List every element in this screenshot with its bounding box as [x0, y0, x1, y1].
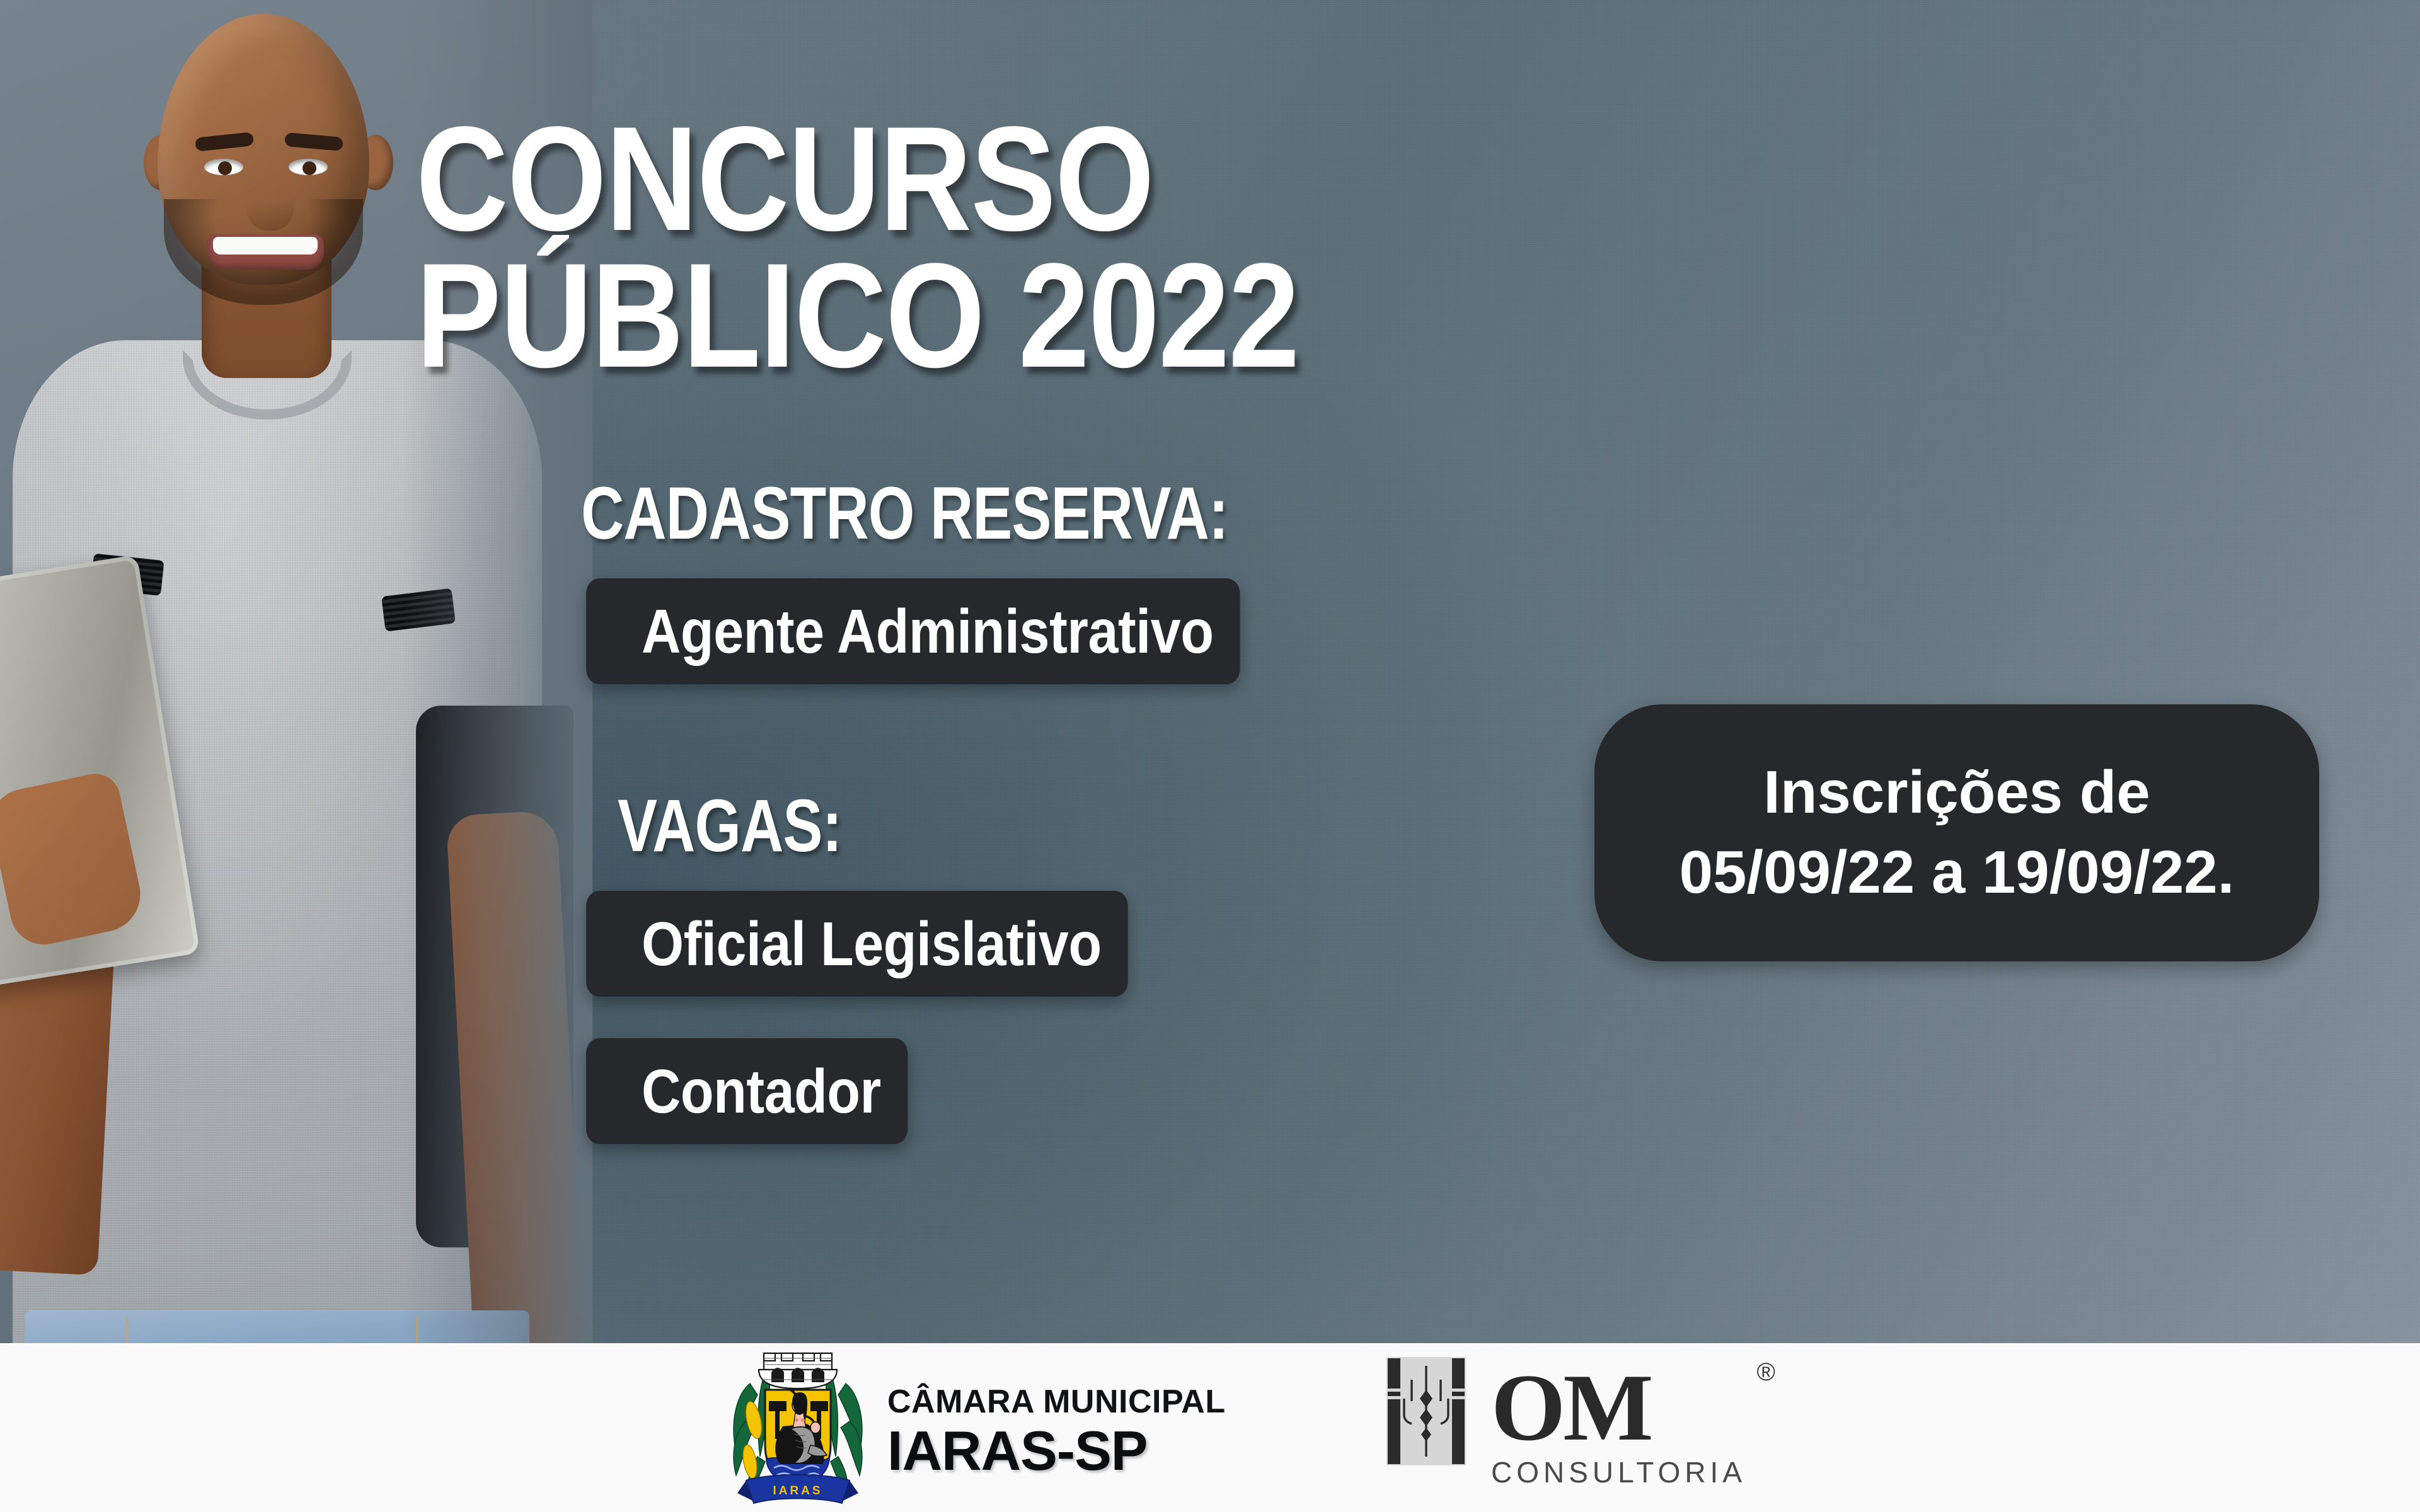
camara-text-block: CÂMARA MUNICIPAL IARAS-SP [887, 1379, 1226, 1479]
pupil-right [302, 161, 316, 175]
job-badge-oficial-legislativo: Oficial Legislativo [586, 891, 1128, 997]
iaras-coat-of-arms-icon: IARAS [725, 1351, 871, 1507]
om-consultoria-logo: OM ® CONSULTORIA [1386, 1357, 1746, 1487]
page-title: CONCURSO PÚBLICO 2022 [416, 111, 1717, 384]
om-wordmark: OM ® CONSULTORIA [1491, 1357, 1746, 1487]
camara-line2: IARAS-SP [887, 1423, 1226, 1479]
om-letters: OM [1491, 1360, 1746, 1455]
crest-motto-text: IARAS [773, 1484, 822, 1498]
page-title-line2: PÚBLICO 2022 [416, 248, 1717, 384]
poster-canvas: CONCURSO PÚBLICO 2022 CADASTRO RESERVA: … [0, 0, 2420, 1512]
registered-trademark-icon: ® [1757, 1360, 1775, 1385]
pupil-left [218, 161, 232, 175]
job-badge-contador: Contador [586, 1038, 907, 1144]
camara-municipal-logo: IARAS CÂMARA MUNICIPAL IARAS-SP [725, 1351, 1226, 1507]
nose [247, 181, 294, 231]
section-label-cadastro-reserva: CADASTRO RESERVA: [581, 476, 1228, 551]
smiling-mouth [207, 234, 324, 270]
registration-dates: 05/09/22 a 19/09/22. [1680, 833, 2235, 913]
job-badge-agente-administrativo: Agente Administrativo [586, 578, 1240, 684]
om-emblem-icon [1386, 1357, 1466, 1465]
teeth [213, 237, 318, 255]
footer-bar: IARAS CÂMARA MUNICIPAL IARAS-SP [0, 1343, 2420, 1512]
registration-label: Inscrições de [1763, 753, 2150, 833]
registration-period-pill: Inscrições de 05/09/22 a 19/09/22. [1594, 704, 2319, 961]
om-subtitle: CONSULTORIA [1491, 1458, 1746, 1487]
section-label-vagas: VAGAS: [618, 789, 841, 863]
camara-line1: CÂMARA MUNICIPAL [887, 1385, 1226, 1418]
